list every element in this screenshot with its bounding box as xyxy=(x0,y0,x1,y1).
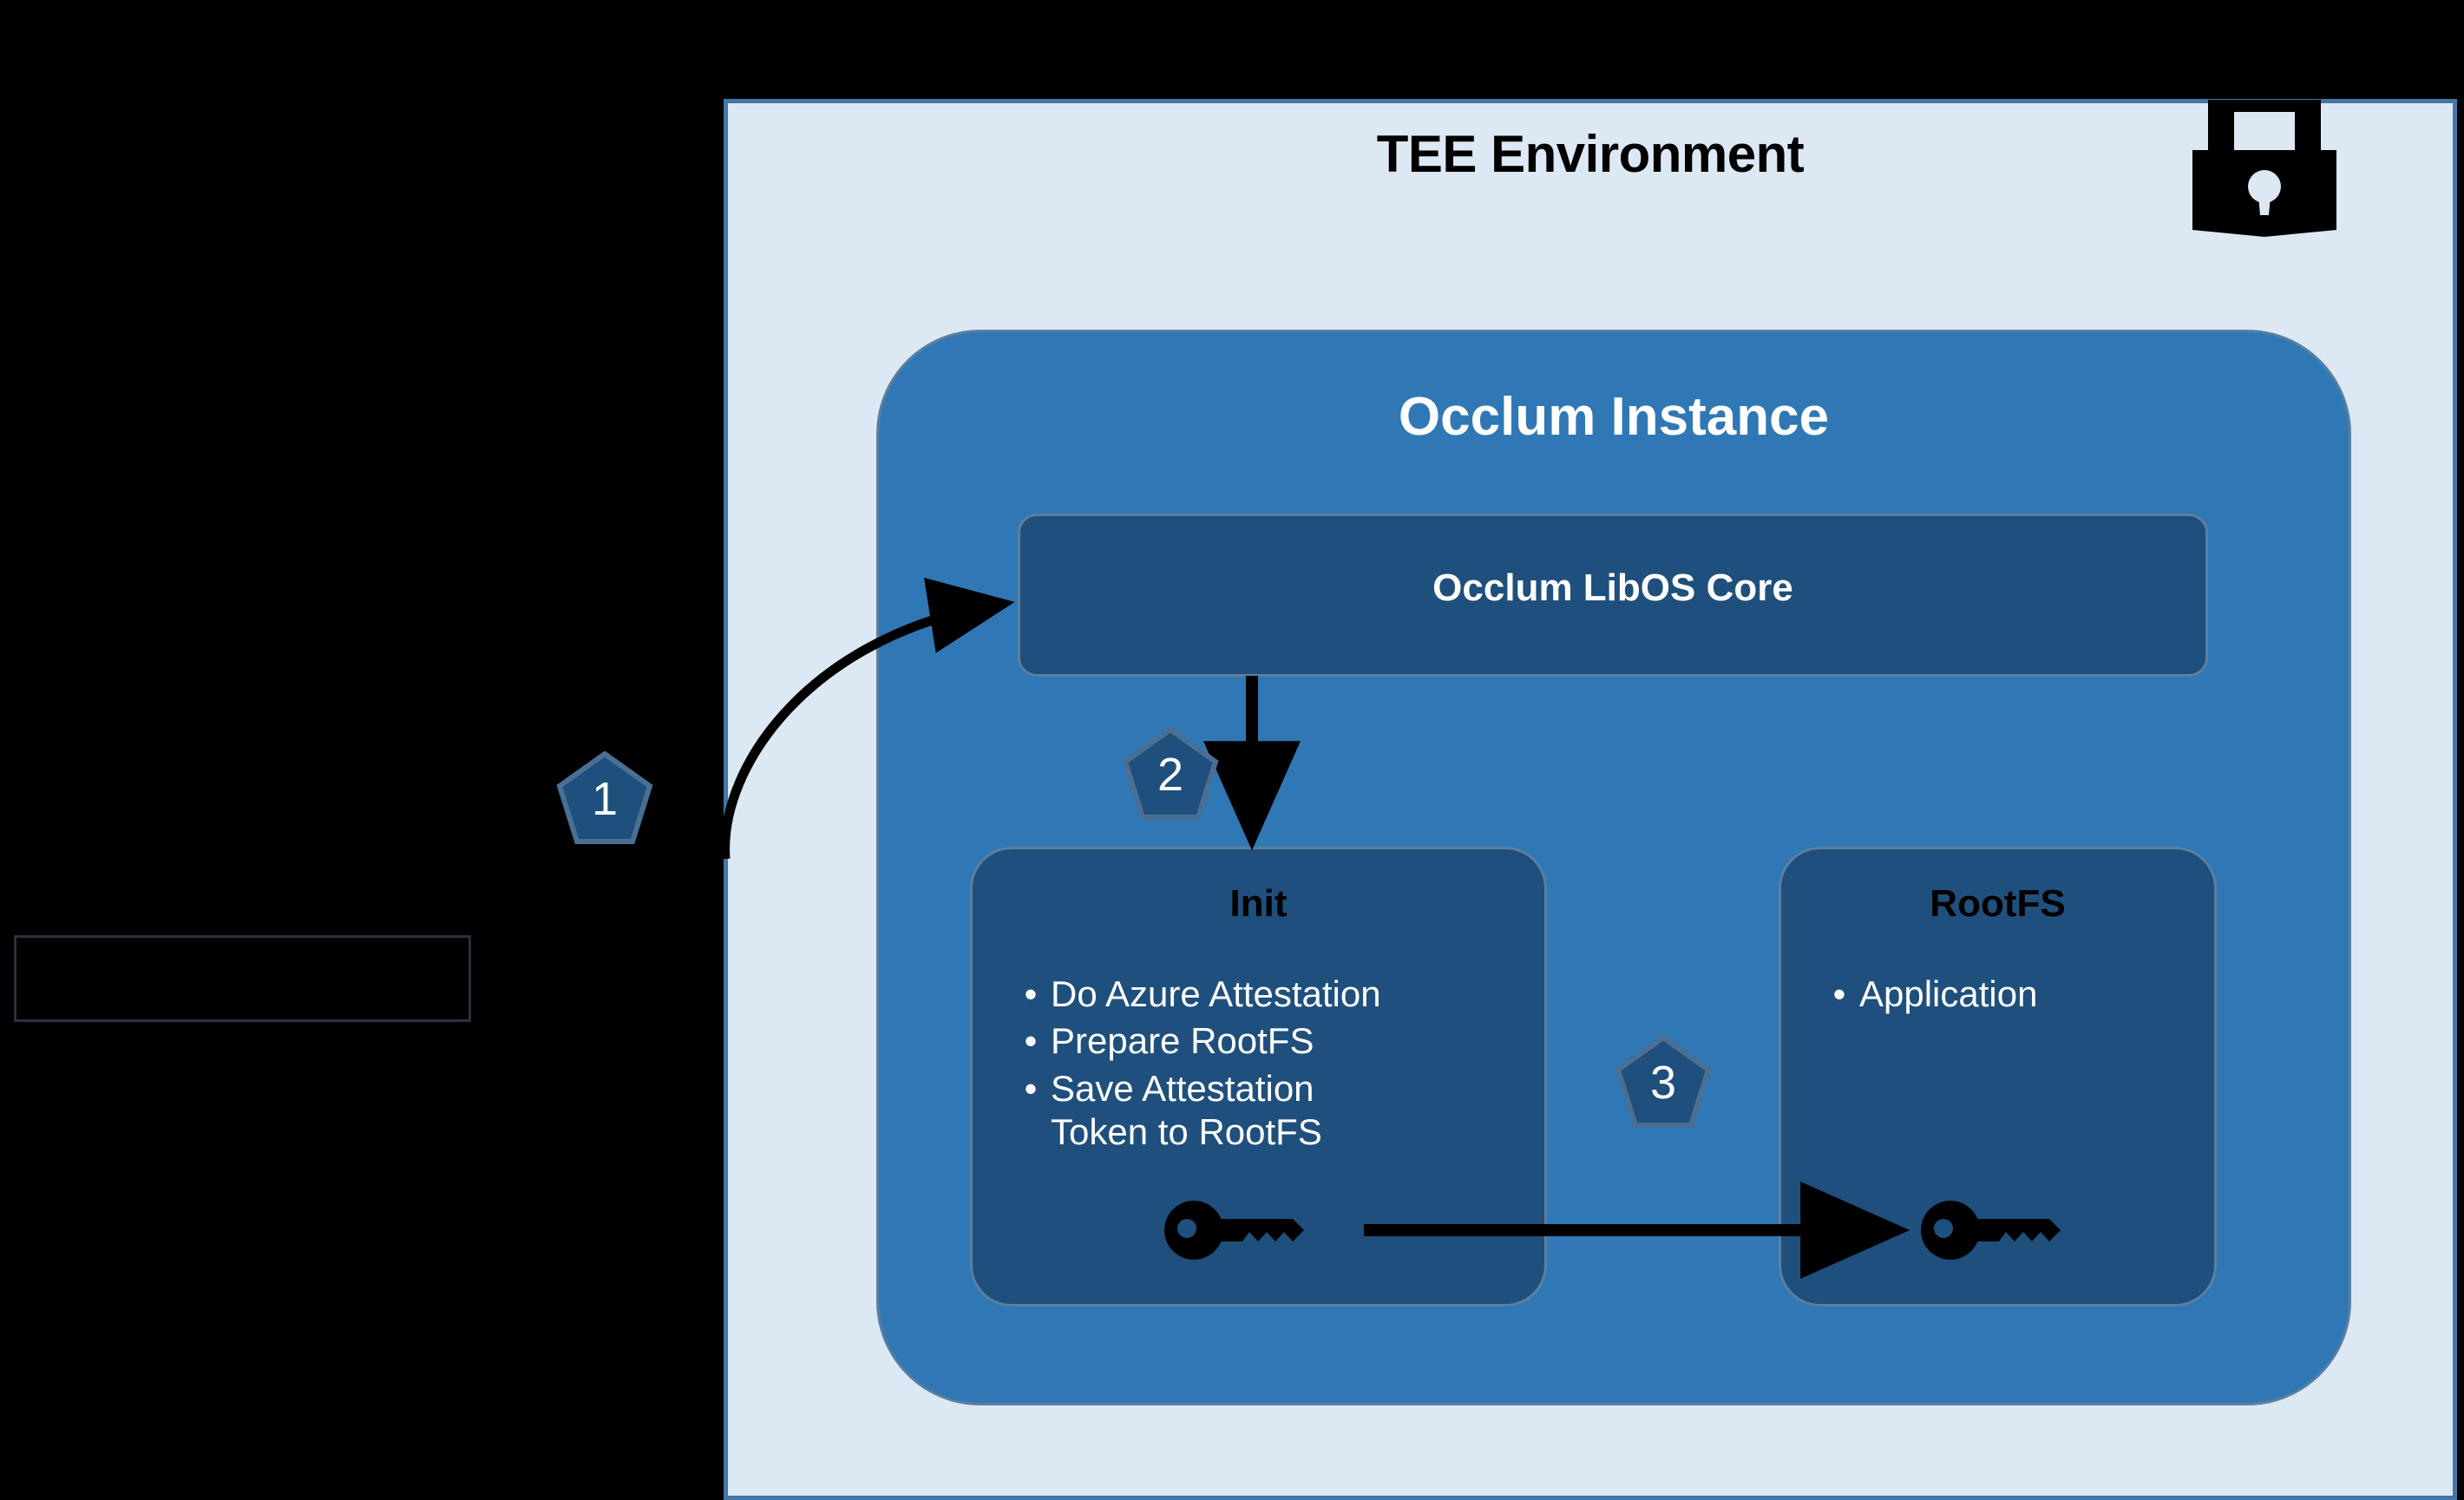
init-title: Init xyxy=(973,882,1544,926)
tee-environment-container: TEE Environment Occlum Instance Occlum L… xyxy=(724,99,2457,1500)
key-icon xyxy=(1919,1195,2075,1265)
step-1-badge: 1 xyxy=(553,751,657,847)
bullet-glyph: • xyxy=(1011,1067,1051,1110)
step-1-number: 1 xyxy=(553,751,657,847)
bullet-glyph: • xyxy=(1011,973,1051,1016)
diagram-canvas: TEE Environment Occlum Instance Occlum L… xyxy=(0,0,2464,1500)
init-bullet-1: Prepare RootFS xyxy=(1051,1019,1530,1063)
init-bullet-0: Do Azure Attestation xyxy=(1051,973,1530,1016)
occlum-libos-core-label: Occlum LibOS Core xyxy=(1020,567,2205,610)
rootfs-title: RootFS xyxy=(1781,882,2214,926)
step-2-number: 2 xyxy=(1118,727,1222,822)
padlock-icon xyxy=(2173,100,2356,265)
key-icon xyxy=(1163,1195,1319,1265)
list-item: • Do Azure Attestation xyxy=(1011,973,1530,1016)
step-2-badge: 2 xyxy=(1118,727,1222,822)
rootfs-bullet-list: • Application xyxy=(1819,973,2200,1019)
list-item: • Prepare RootFS xyxy=(1011,1019,1530,1063)
rootfs-bullet-0: Application xyxy=(1859,973,2200,1016)
list-item: • Save Attestation Token to RootFS xyxy=(1011,1067,1530,1155)
step-3-badge: 3 xyxy=(1611,1035,1715,1130)
init-bullet-2: Save Attestation Token to RootFS xyxy=(1051,1067,1530,1155)
bullet-glyph: • xyxy=(1011,1019,1051,1063)
list-item: • Application xyxy=(1819,973,2200,1016)
left-cropped-panel-outline xyxy=(14,935,471,1022)
bullet-glyph: • xyxy=(1819,973,1859,1016)
occlum-libos-core-box: Occlum LibOS Core xyxy=(1018,514,2208,677)
init-bullet-list: • Do Azure Attestation • Prepare RootFS … xyxy=(1011,973,1530,1158)
step-3-number: 3 xyxy=(1611,1035,1715,1130)
occlum-instance-title: Occlum Instance xyxy=(879,386,2349,448)
